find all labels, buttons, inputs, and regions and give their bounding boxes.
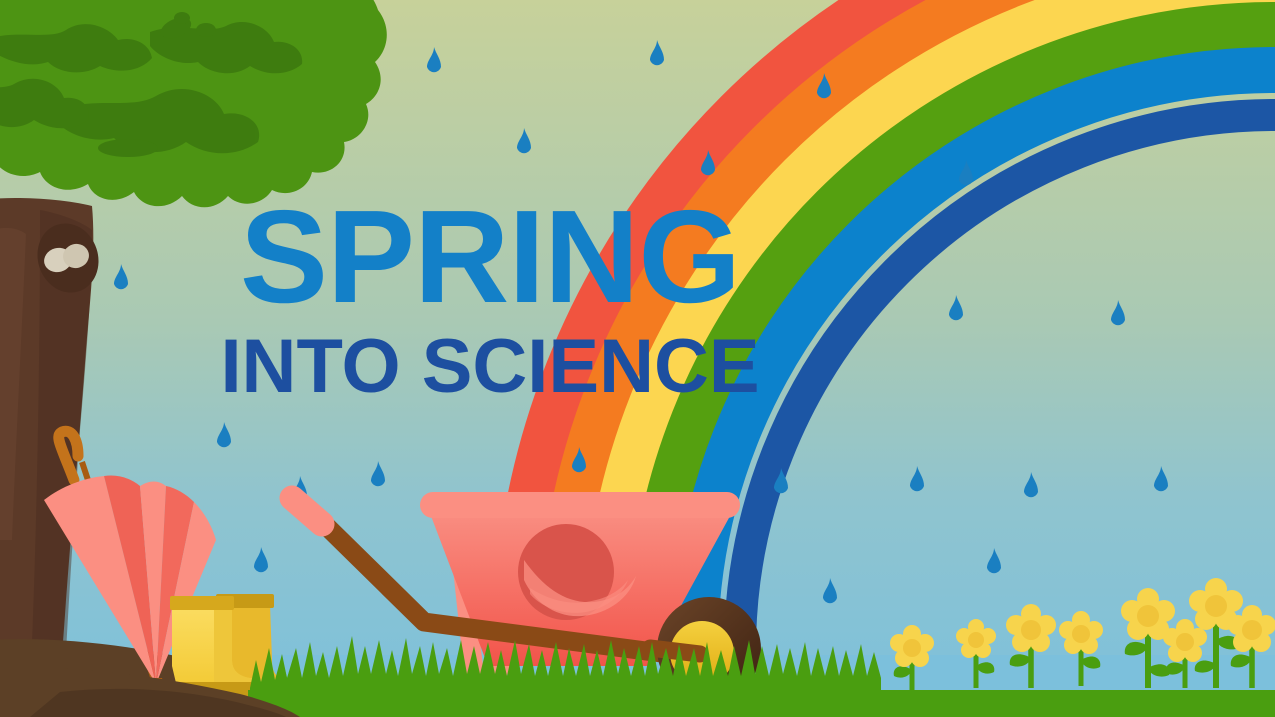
flower (890, 625, 934, 692)
flower (1228, 605, 1275, 688)
raindrop (114, 264, 128, 289)
flower (1059, 611, 1103, 686)
raindrop (371, 461, 385, 486)
poster-canvas: SPRING INTO SCIENCE (0, 0, 1275, 717)
raindrop (254, 547, 268, 572)
raindrop (910, 466, 924, 491)
barrow-handle-grip (292, 498, 322, 524)
raindrop (823, 578, 837, 603)
raindrop (1024, 472, 1038, 497)
raindrop (572, 447, 586, 472)
foreground-layer (0, 0, 1275, 717)
raindrop (959, 160, 973, 185)
raindrop (949, 295, 963, 320)
raindrop (1111, 300, 1125, 325)
axle (650, 648, 700, 654)
barrow-rail (420, 492, 740, 518)
raindrop (701, 150, 715, 175)
grass (248, 636, 1275, 717)
raindrop (1154, 466, 1168, 491)
raindrop (650, 40, 664, 65)
raindrop (817, 73, 831, 98)
flower (1006, 604, 1056, 688)
boot-cuff-front (170, 596, 234, 610)
raindrop (987, 548, 1001, 573)
flower (956, 619, 996, 688)
flowers-group (890, 578, 1275, 692)
raindrop (217, 422, 231, 447)
raindrop (517, 128, 531, 153)
raindrop (427, 47, 441, 72)
flower (1163, 619, 1207, 688)
grass-base (248, 690, 1275, 717)
raindrop (774, 468, 788, 493)
